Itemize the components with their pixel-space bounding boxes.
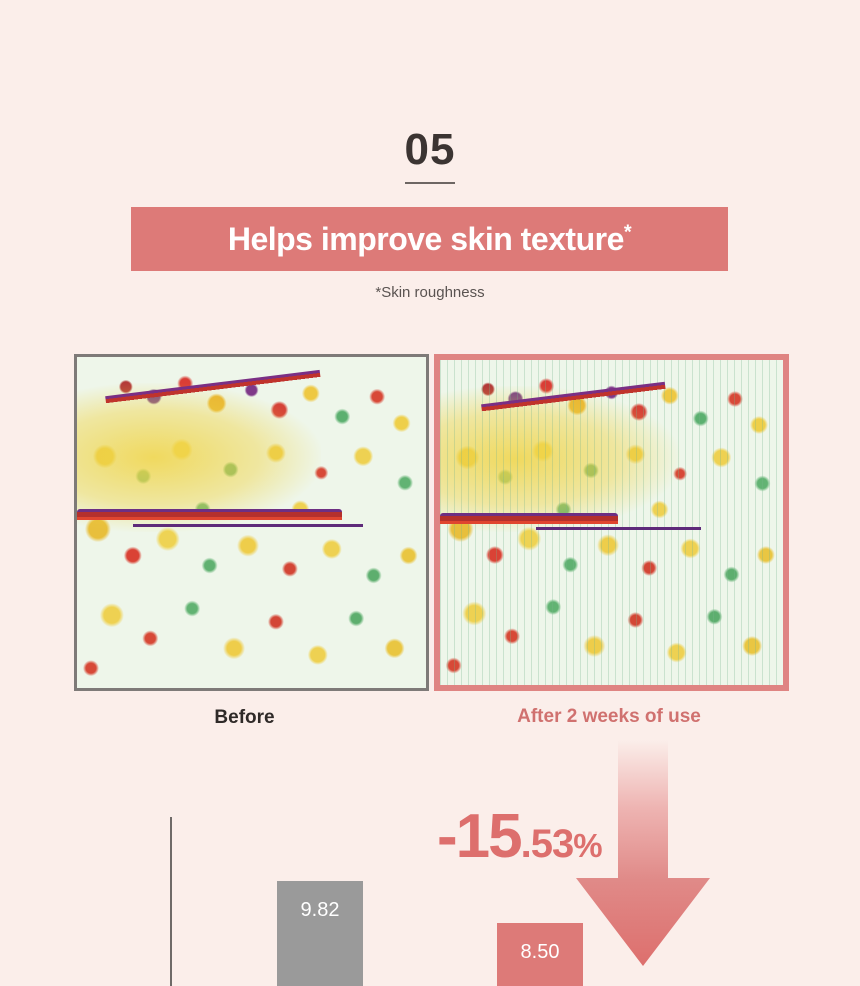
after-caption: After 2 weeks of use [434, 706, 784, 728]
step-number: 05 [405, 128, 456, 184]
skin-texture-colormap-after-image [440, 360, 783, 685]
chart-y-axis [170, 817, 172, 986]
step-number-block: 05 [0, 128, 860, 184]
change-integer: -15 [437, 802, 521, 871]
bar-after: 8.50 [497, 923, 583, 986]
after-image-panel [434, 354, 789, 691]
page-title-text: Helps improve skin texture [228, 221, 624, 257]
change-percentage: -15.53% [437, 806, 603, 868]
title-asterisk: * [624, 221, 631, 243]
bar-after-value: 8.50 [497, 941, 583, 964]
bar-before: 9.82 [277, 881, 363, 986]
skin-wrinkle-main [440, 513, 618, 527]
bar-before-value: 9.82 [277, 899, 363, 922]
page-title: Helps improve skin texture* [228, 221, 631, 258]
section-title-bar: Helps improve skin texture* [131, 207, 728, 271]
change-decimal: .53 [521, 822, 574, 866]
skin-wrinkle-secondary [133, 524, 363, 530]
percent-symbol: % [573, 827, 602, 864]
title-footnote: *Skin roughness [0, 284, 860, 301]
before-image-panel [74, 354, 429, 691]
before-caption: Before [74, 707, 415, 729]
skin-wrinkle-main [77, 509, 342, 523]
skin-wrinkle-secondary [536, 527, 701, 533]
skin-texture-colormap-before-image [77, 357, 426, 688]
